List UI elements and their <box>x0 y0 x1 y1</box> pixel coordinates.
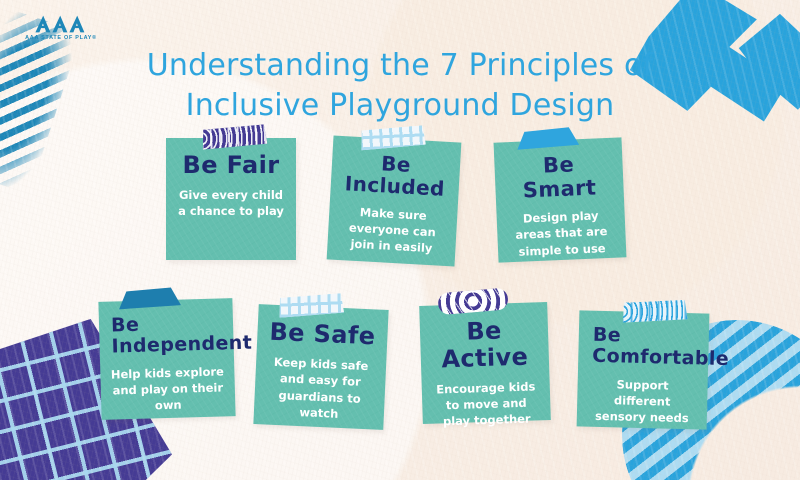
principle-card-be-comfortable[interactable]: Be Comfortable Support different sensory… <box>577 310 710 429</box>
aaa-triple-a-logo-icon <box>34 14 88 34</box>
principle-card-be-smart[interactable]: Be Smart Design play areas that are simp… <box>494 137 627 262</box>
page-title: Understanding the 7 Principles of Inclus… <box>0 46 800 125</box>
principle-heading: Be Independent <box>109 312 224 358</box>
principle-heading: Be Comfortable <box>588 325 699 370</box>
tape-purple-hexagon-icon <box>437 287 509 315</box>
principle-body: Give every child a chance to play <box>176 187 286 220</box>
principle-heading: Be Fair <box>176 152 286 179</box>
tape-solid-darkblue-icon <box>118 286 181 311</box>
page-title-line-1: Understanding the 7 Principles of <box>147 48 654 83</box>
principle-body: Help kids explore and play on their own <box>110 363 225 415</box>
tape-lightblue-grid-icon <box>277 293 344 318</box>
principle-body: Design play areas that are simple to use <box>506 207 616 260</box>
principle-heading: Be Included <box>340 150 450 201</box>
principle-body: Support different sensory needs <box>587 375 698 427</box>
principle-card-be-safe[interactable]: Be Safe Keep kids safe and easy for guar… <box>253 304 388 430</box>
tape-solid-blue-icon <box>515 126 579 152</box>
tape-blue-wave-icon <box>622 300 688 323</box>
principle-heading: Be Smart <box>504 152 614 204</box>
page-title-line-2: Inclusive Playground Design <box>110 86 690 126</box>
principle-card-be-active[interactable]: Be Active Encourage kids to move and pla… <box>419 302 551 424</box>
infographic-canvas: AAA STATE OF PLAY® Understanding the 7 P… <box>0 0 800 480</box>
principle-body: Make sure everyone can join in easily <box>337 203 448 258</box>
brand-wordmark: AAA STATE OF PLAY® <box>18 36 104 41</box>
principle-card-be-fair[interactable]: Be Fair Give every child a chance to pla… <box>166 138 296 260</box>
principle-body: Keep kids safe and easy for guardians to… <box>264 353 377 423</box>
brand-logo[interactable]: AAA STATE OF PLAY® <box>18 14 104 41</box>
principle-body: Encourage kids to move and play together <box>432 378 541 430</box>
principle-heading: Be Safe <box>267 319 378 351</box>
tape-lightblue-grid-icon <box>359 125 426 150</box>
principle-card-be-included[interactable]: Be Included Make sure everyone can join … <box>327 136 462 267</box>
principle-heading: Be Active <box>430 316 540 373</box>
tape-purple-wave-icon <box>200 124 267 149</box>
principle-card-be-independent[interactable]: Be Independent Help kids explore and pla… <box>98 298 235 420</box>
